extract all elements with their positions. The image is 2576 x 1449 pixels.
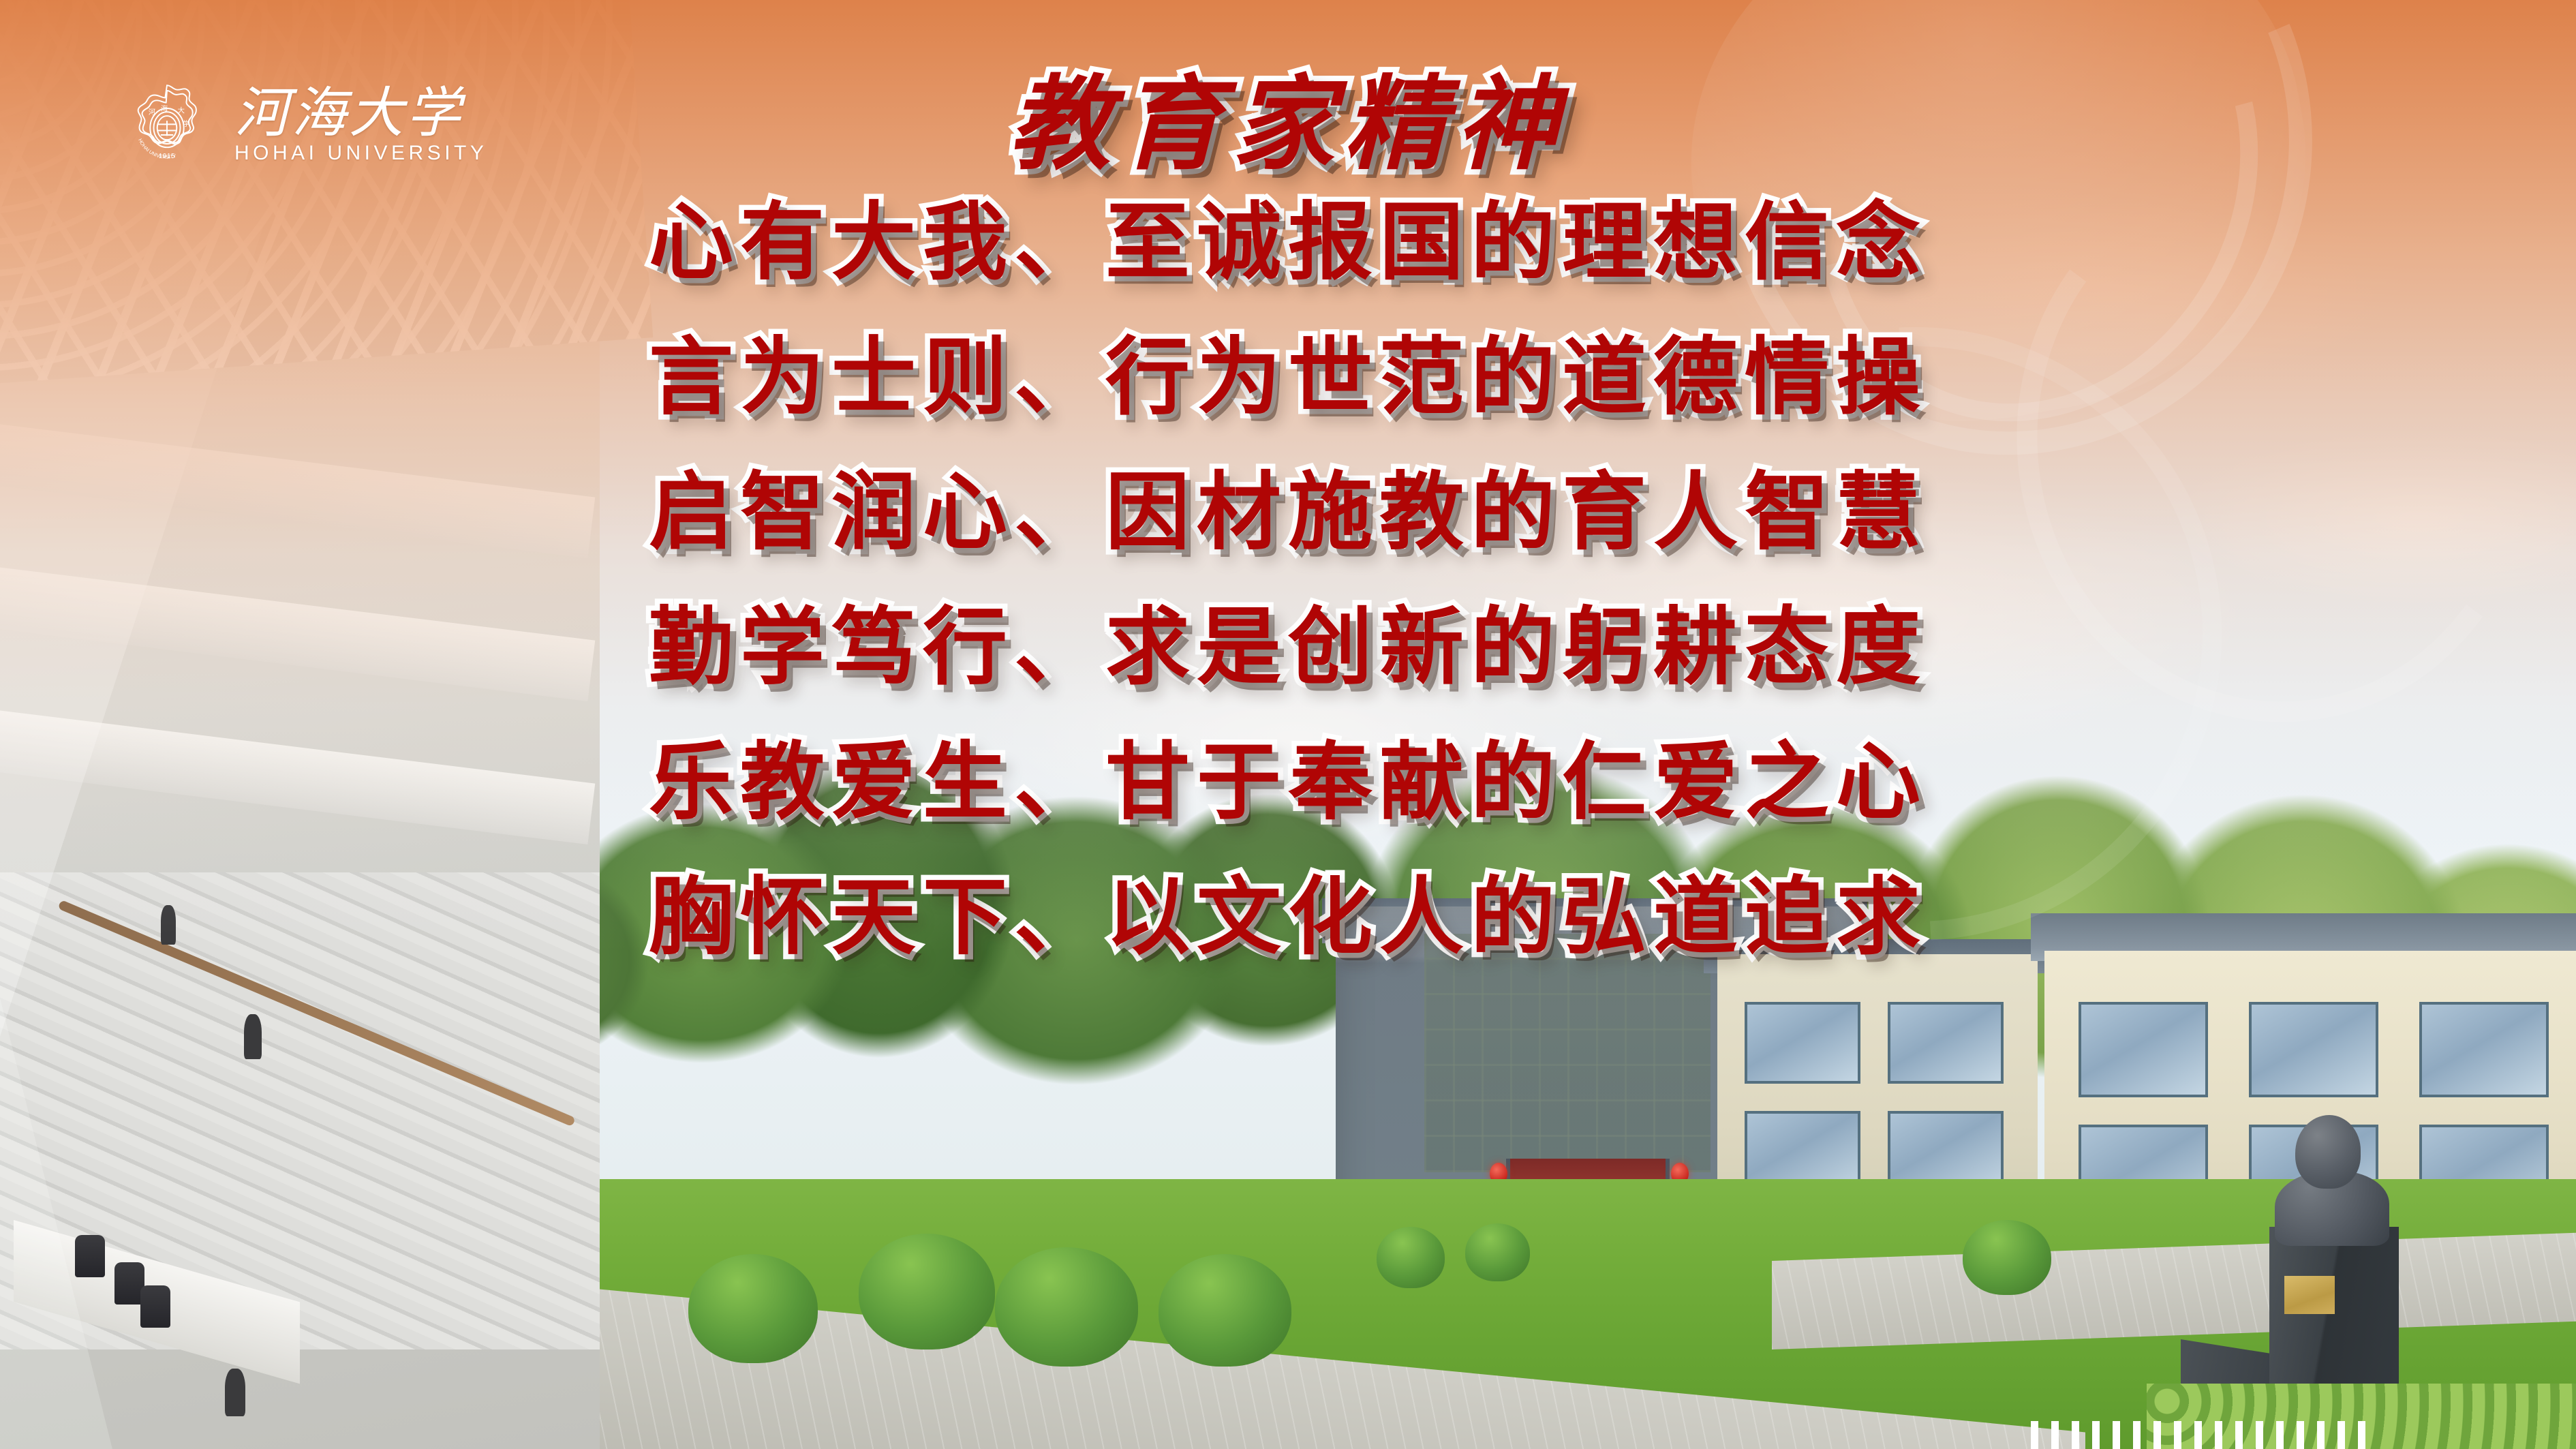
- poster-line-list: 心有大我、至诚报国的理想信念 言为士则、行为世范的道德情操 启智润心、因材施教的…: [0, 200, 2576, 960]
- poster-line: 勤学笃行、求是创新的躬耕态度: [0, 605, 2576, 690]
- round-shrub: [1159, 1254, 1291, 1367]
- round-shrub: [859, 1234, 995, 1349]
- poster-line: 启智润心、因材施教的育人智慧: [0, 470, 2576, 555]
- white-picket-fence: [2031, 1421, 2372, 1449]
- poster-canvas: 1915 HOHAI UNIVERSITY 河 海 大 学 河海大学 HOHAI…: [0, 0, 2576, 1449]
- pedestal-plaque: [2284, 1276, 2335, 1314]
- window: [1745, 1002, 1860, 1084]
- poster-line: 言为士则、行为世范的道德情操: [0, 335, 2576, 420]
- round-shrub: [1377, 1227, 1445, 1288]
- window: [2419, 1002, 2549, 1097]
- poster-line: 乐教爱生、甘于奉献的仁爱之心: [0, 740, 2576, 825]
- poster-line: 心有大我、至诚报国的理想信念: [0, 200, 2576, 285]
- poster-line: 胸怀天下、以文化人的弘道追求: [0, 875, 2576, 960]
- round-shrub: [1963, 1220, 2051, 1295]
- ivy-trellis: [1424, 934, 1711, 1172]
- bust-head: [2295, 1115, 2361, 1189]
- round-shrub: [995, 1247, 1138, 1367]
- window: [2249, 1002, 2378, 1097]
- poster-text-block: 教育家精神 心有大我、至诚报国的理想信念 言为士则、行为世范的道德情操 启智润心…: [0, 0, 2576, 960]
- poster-title: 教育家精神: [0, 74, 2576, 176]
- round-shrub: [1465, 1223, 1530, 1281]
- window: [1888, 1002, 2004, 1084]
- window: [2079, 1002, 2208, 1097]
